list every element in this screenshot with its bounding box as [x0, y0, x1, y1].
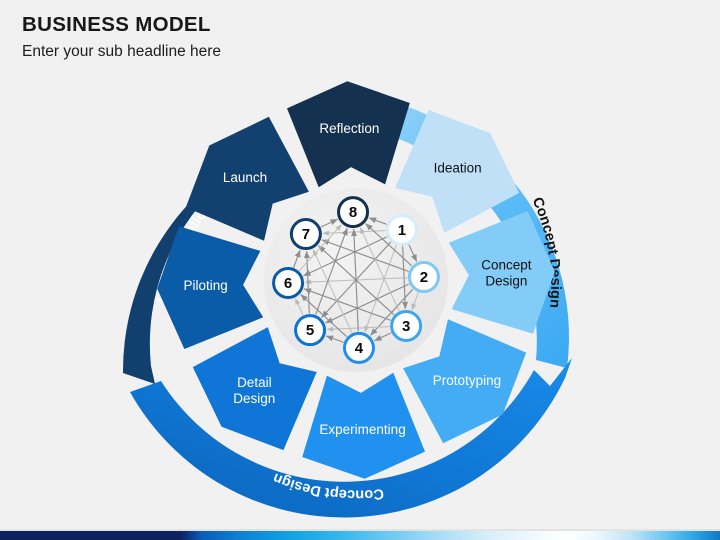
footer-gradient-bar — [0, 531, 720, 540]
segment-label: Experimenting — [319, 422, 405, 437]
hub-node-number: 7 — [302, 226, 310, 243]
segment-label: DetailDesign — [233, 375, 275, 406]
segment-label: Piloting — [184, 278, 228, 293]
segment-reflection[interactable]: Reflection — [287, 81, 410, 187]
hub-node-number: 1 — [398, 222, 406, 239]
segment-label: ConceptDesign — [481, 257, 532, 288]
segment-label: Ideation — [434, 161, 482, 176]
segment-label: Launch — [223, 170, 267, 185]
segment-label: Reflection — [319, 121, 379, 136]
hub: 12345678 — [264, 188, 448, 372]
hub-node-number: 6 — [284, 275, 292, 292]
hub-node-number: 3 — [402, 318, 410, 335]
business-model-wheel: Implementation Concept Design Concept De… — [78, 48, 638, 518]
hub-node-8[interactable]: 8 — [339, 198, 368, 227]
hub-node-number: 5 — [306, 322, 314, 339]
hub-node-5[interactable]: 5 — [296, 316, 325, 345]
segment-piloting[interactable]: Piloting — [157, 226, 263, 349]
hub-node-number: 4 — [355, 340, 364, 357]
hub-node-number: 8 — [349, 204, 357, 221]
segment-experimenting[interactable]: Experimenting — [302, 373, 425, 479]
segment-label: Prototyping — [433, 373, 501, 388]
hub-node-6[interactable]: 6 — [274, 268, 303, 297]
hub-node-number: 2 — [420, 269, 428, 286]
slide-canvas: BUSINESS MODEL Enter your sub headline h… — [0, 0, 720, 540]
hub-node-4[interactable]: 4 — [344, 333, 373, 362]
page-title: BUSINESS MODEL — [22, 14, 221, 37]
hub-node-1[interactable]: 1 — [387, 215, 416, 244]
hub-node-7[interactable]: 7 — [291, 220, 320, 249]
hub-node-2[interactable]: 2 — [409, 263, 438, 292]
hub-node-3[interactable]: 3 — [392, 311, 421, 340]
